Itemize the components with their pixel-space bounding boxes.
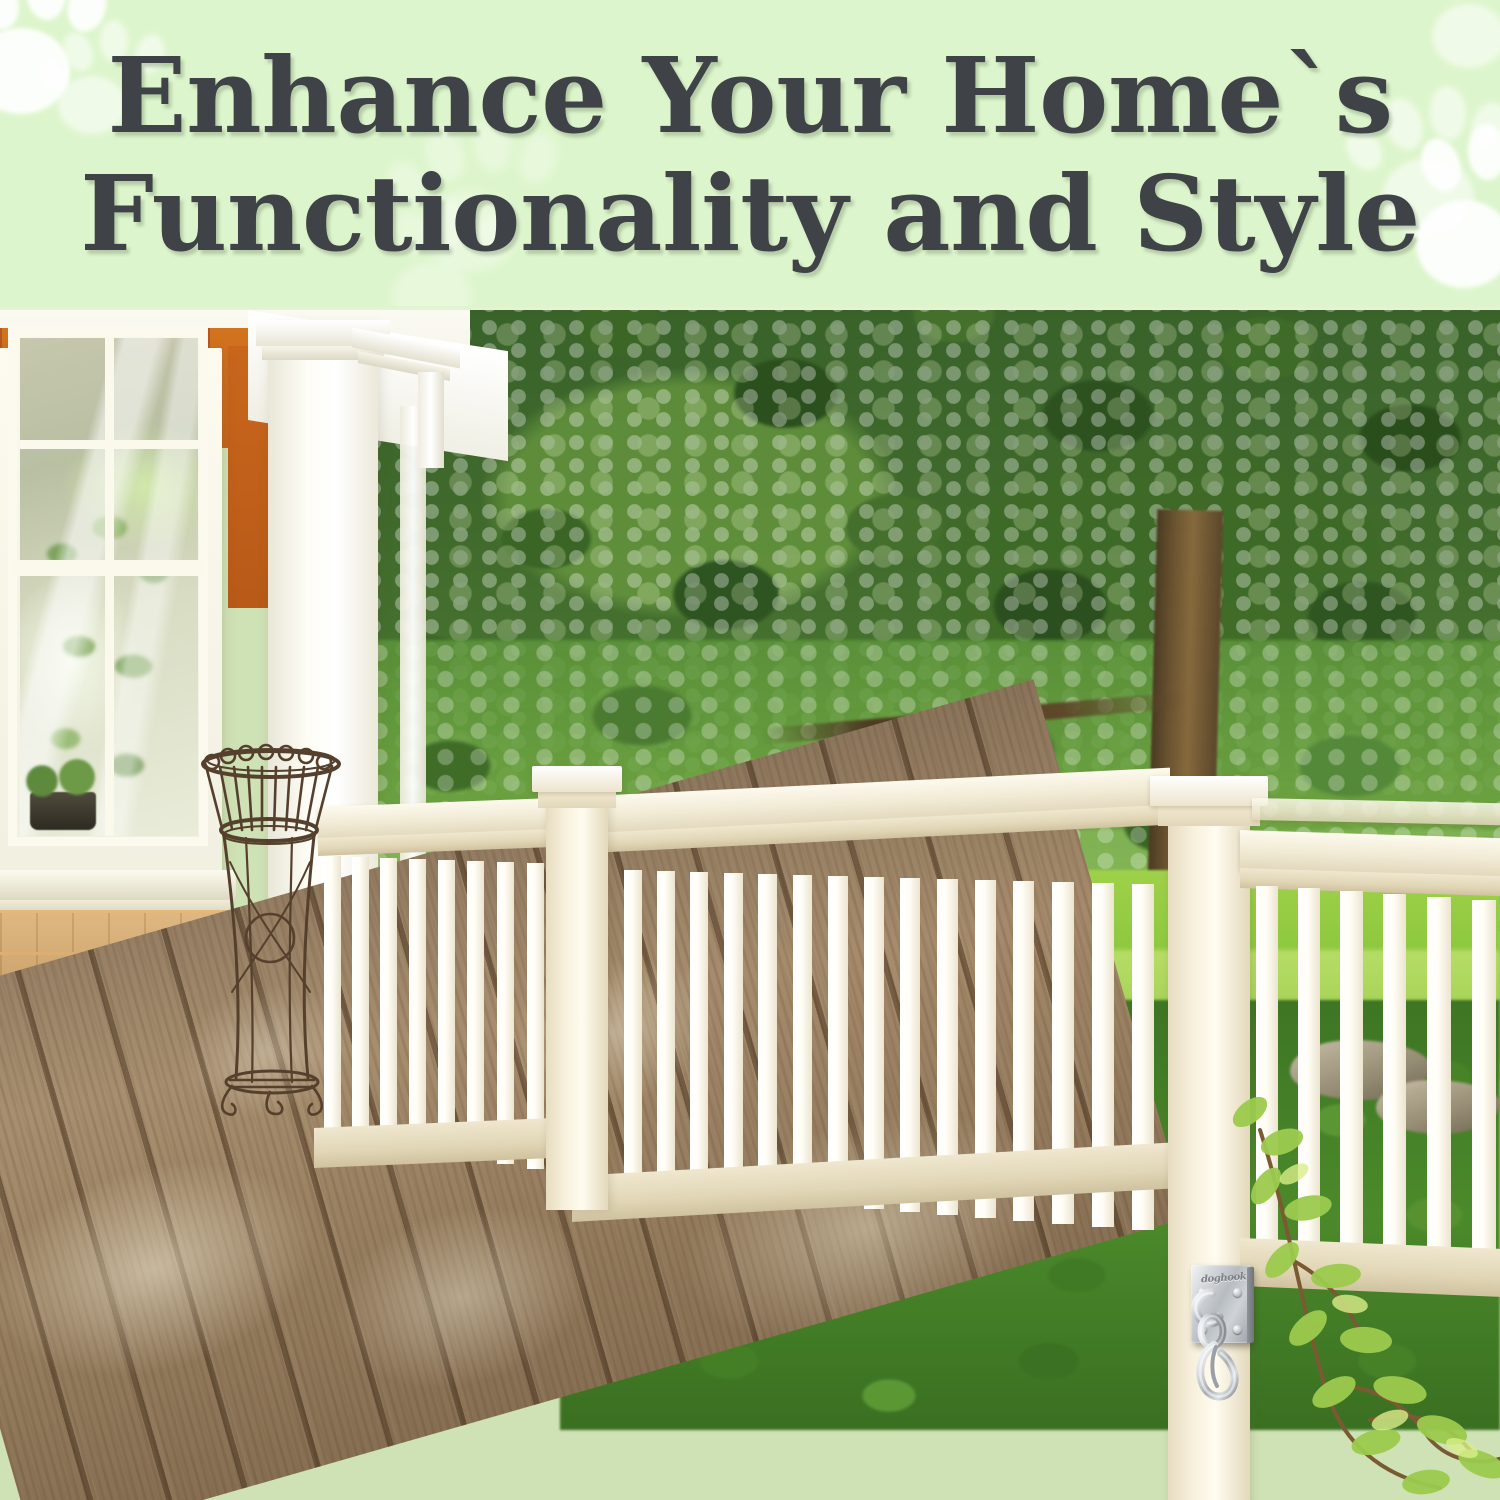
- header-banner: Enhance Your Home`s Functionality and St…: [0, 0, 1500, 310]
- baluster: [624, 870, 642, 1188]
- window-muntin-vertical-upper: [105, 338, 114, 560]
- railing-post-left-cap: [532, 766, 622, 792]
- title-line-1: Enhance Your Home`s: [107, 44, 1392, 148]
- title-line-2: Functionality and Style: [80, 162, 1420, 266]
- wall-mount-hook-product[interactable]: doghook: [1191, 1265, 1261, 1415]
- baluster: [690, 872, 708, 1194]
- wire-plant-stand: [196, 742, 346, 1122]
- baluster: [467, 861, 484, 1159]
- carabiner-gate: [1212, 1347, 1217, 1386]
- potted-plant-in-window: [22, 758, 108, 834]
- baluster: [409, 859, 426, 1149]
- baluster: [793, 875, 812, 1203]
- railing-post-right-cap: [1150, 776, 1268, 806]
- baluster: [380, 858, 397, 1144]
- baluster: [657, 871, 675, 1191]
- banner-canvas: Enhance Your Home`s Functionality and St…: [0, 0, 1500, 1500]
- window-sash-rail: [14, 560, 204, 576]
- foreground-vine: [1230, 1090, 1500, 1500]
- railing-post-left: [546, 800, 608, 1210]
- page-title: Enhance Your Home`s Functionality and St…: [0, 0, 1500, 310]
- porch-bracket-drop: [418, 372, 444, 468]
- window-muntin-horizontal-upper: [20, 440, 198, 449]
- baluster: [352, 857, 369, 1139]
- hook-and-carabiner-svg: [1185, 1287, 1257, 1437]
- baluster: [724, 873, 743, 1197]
- baluster: [828, 876, 848, 1206]
- baluster: [758, 874, 777, 1200]
- product-scene-photo: doghook: [0, 310, 1500, 1500]
- baluster: [438, 860, 455, 1154]
